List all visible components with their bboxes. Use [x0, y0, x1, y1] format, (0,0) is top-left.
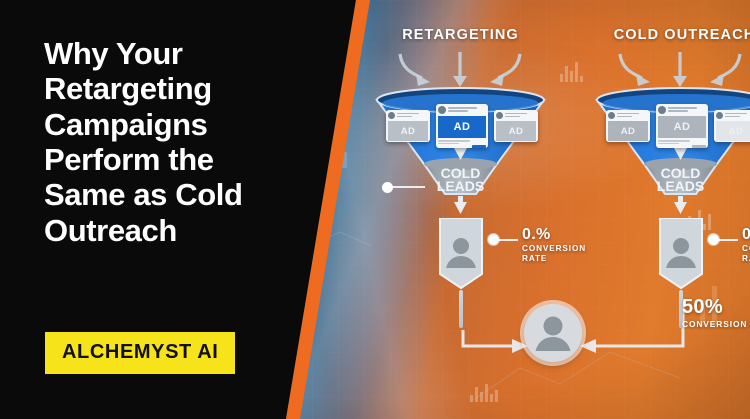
- ad-card[interactable]: AD: [606, 110, 650, 142]
- ad-card[interactable]: AD: [386, 110, 430, 142]
- ad-card-highlighted[interactable]: AD: [436, 104, 488, 148]
- funnel-neck-cold-outreach: [646, 218, 716, 293]
- funnel-title-retargeting: RETARGETING: [368, 27, 553, 43]
- ad-card[interactable]: AD: [714, 110, 750, 142]
- headline-line: Why Your: [44, 36, 306, 71]
- headline-line: Outreach: [44, 213, 306, 248]
- ad-card-label: AD: [608, 121, 648, 141]
- funnel-cold-outreach: COLD OUTREACH: [588, 0, 750, 419]
- ad-card-label: AD: [496, 121, 536, 141]
- callout-secondary-cold-outreach: 50% CONVERSION RA: [682, 296, 750, 330]
- callout-caption-line2: RATE: [742, 254, 750, 264]
- page-title: Why Your Retargeting Campaigns Perform t…: [44, 36, 306, 248]
- funnel-neck-retargeting: [426, 218, 496, 293]
- funnel-stage-label-line2: LEADS: [437, 178, 484, 194]
- ad-card-label: AD: [716, 121, 750, 141]
- secondary-callout-caption: CONVERSION RA: [682, 319, 750, 330]
- social-graphic: RETARGETING: [0, 0, 750, 419]
- callout-caption-line1: CONVERS: [742, 244, 750, 254]
- headline-line: Same as Cold: [44, 177, 306, 212]
- headline-line: Perform the: [44, 142, 306, 177]
- ad-card[interactable]: AD: [656, 104, 708, 148]
- funnel-inflow-arrows-retargeting: [388, 48, 533, 90]
- funnel-inflow-arrows-cold-outreach: [608, 48, 750, 90]
- ad-card[interactable]: AD: [494, 110, 538, 142]
- funnel-stem-retargeting: [459, 290, 463, 328]
- ad-card-label: AD: [658, 116, 706, 138]
- ad-cards-cold-outreach: AD AD AD: [606, 104, 750, 148]
- funnel-title-cold-outreach: COLD OUTREACH: [592, 27, 750, 43]
- headline-line: Campaigns: [44, 107, 306, 142]
- funnel-retargeting: RETARGETING: [368, 0, 553, 419]
- secondary-callout-value: 50%: [682, 296, 750, 319]
- ad-card-label: AD: [388, 121, 428, 141]
- ad-card-label: AD: [438, 116, 486, 138]
- headline-line: Retargeting: [44, 71, 306, 106]
- callout-value: 0.%: [742, 226, 750, 244]
- brand-badge: ALCHEMYST AI: [45, 332, 235, 374]
- funnel-stage-label-line2: LEADS: [657, 178, 704, 194]
- ad-cards-retargeting: AD AD AD: [386, 104, 536, 148]
